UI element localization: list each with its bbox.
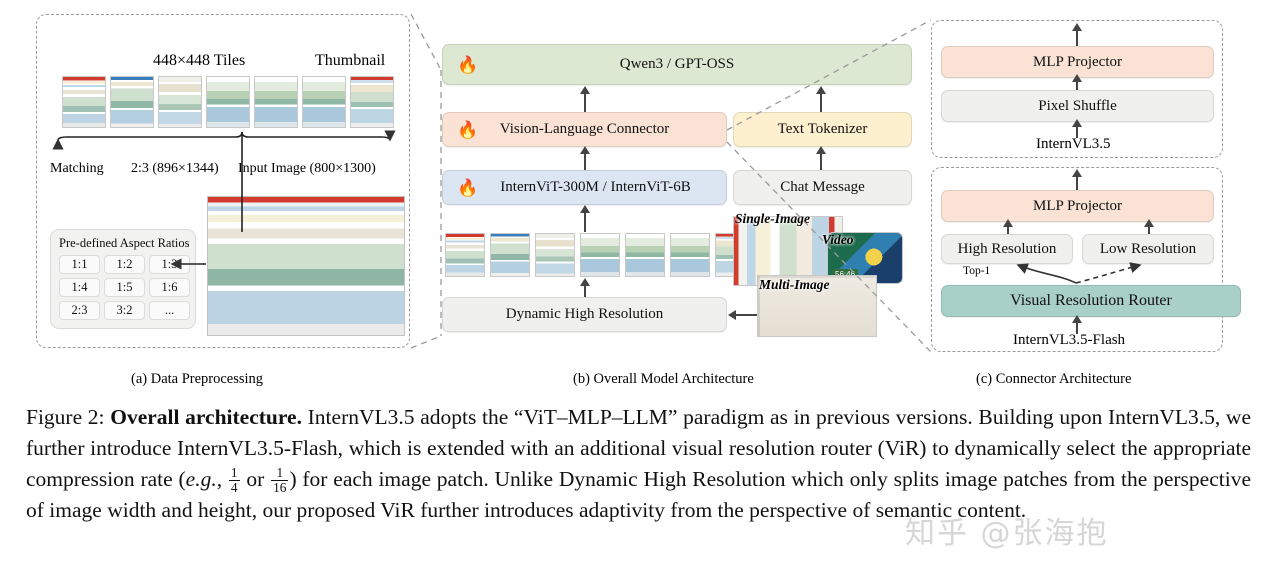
aspect-ratio-cell[interactable]: 3:2 [104,301,145,320]
mlp-projector-label: MLP Projector [1033,198,1122,215]
internvl35-label: InternVL3.5 [1036,136,1111,153]
router-label: Visual Resolution Router [1010,292,1172,310]
tile-thumbnail-5 [254,76,298,128]
patch-thumbnail-6 [670,233,710,277]
multi-image-label: Multi-Image [759,277,830,293]
patch-thumbnail-5 [625,233,665,277]
arrow-mlp-out-top [1076,30,1078,46]
patch-thumbnail-2 [490,233,530,277]
tile-thumbnail-3 [158,76,202,128]
fraction-one-sixteenth: 116 [271,466,288,495]
fraction-one-quarter: 14 [229,466,240,495]
patch-thumbnail-4 [580,233,620,277]
panel-a-caption: (a) Data Preprocessing [131,371,263,388]
aspect-ratio-title: Pre-defined Aspect Ratios [59,235,187,255]
llm-box[interactable]: 🔥 Qwen3 / GPT-OSS [442,44,912,85]
aspect-ratio-cell[interactable]: 1:1 [59,255,100,274]
pixel-shuffle-box[interactable]: Pixel Shuffle [941,90,1214,122]
visual-resolution-router-box[interactable]: Visual Resolution Router [941,285,1241,317]
input-image-label: Input Image (800×1300) [238,161,376,177]
input-image-preview [207,196,405,336]
connector-box-label: Vision-Language Connector [500,121,669,138]
aspect-ratio-cell[interactable]: 1:6 [149,278,190,297]
fraction-denominator: 4 [229,481,240,495]
pixel-shuffle-label: Pixel Shuffle [1038,98,1116,115]
top1-label: Top-1 [963,265,990,277]
aspect-ratio-cell[interactable]: 1:3 [149,255,190,274]
tile-thumbnail-4 [206,76,250,128]
caption-eg: e.g. [186,467,217,491]
video-label: Video [822,232,854,248]
patch-thumbnail-3 [535,233,575,277]
vision-language-connector-box[interactable]: 🔥 Vision-Language Connector [442,112,727,147]
aspect-ratio-label: 2:3 (896×1344) [131,161,219,177]
tile-thumbnail-1 [62,76,106,128]
llm-box-label: Qwen3 / GPT-OSS [620,56,734,73]
matching-label: Matching [50,161,104,177]
aspect-ratio-cell[interactable]: 1:5 [104,278,145,297]
internvl35-flash-label: InternVL3.5-Flash [1013,332,1125,349]
dhr-box-label: Dynamic High Resolution [506,306,664,323]
vit-box-label: InternViT-300M / InternViT-6B [478,179,690,196]
tiles-label: 448×448 Tiles [153,52,245,70]
dynamic-high-resolution-box[interactable]: Dynamic High Resolution [442,297,727,332]
aspect-ratio-card: Pre-defined Aspect Ratios 1:1 1:2 1:3 1:… [50,229,196,329]
fraction-denominator: 16 [271,481,288,495]
low-resolution-box[interactable]: Low Resolution [1082,234,1214,264]
arrow-tiles-to-vit [584,212,586,232]
caption-part-3: or [241,467,271,491]
high-resolution-label: High Resolution [958,241,1057,258]
vision-encoder-box[interactable]: 🔥 InternViT-300M / InternViT-6B [442,170,727,205]
high-resolution-box[interactable]: High Resolution [941,234,1073,264]
flame-icon: 🔥 [457,121,478,138]
panel-b-caption: (b) Overall Model Architecture [573,371,754,388]
figure-number: Figure 2: [26,405,110,429]
panel-c-caption: (c) Connector Architecture [976,371,1131,388]
aspect-ratio-cell[interactable]: 2:3 [59,301,100,320]
flame-icon: 🔥 [457,56,478,73]
flame-icon: 🔥 [457,179,478,196]
single-image-label: Single-Image [735,211,810,227]
low-resolution-label: Low Resolution [1100,241,1196,258]
chat-box-label: Chat Message [780,179,865,196]
caption-bold-title: Overall architecture. [110,405,302,429]
mlp-projector-label: MLP Projector [1033,54,1122,71]
figure-container: 448×448 Tiles Thumbnail Matching 2:3 (89… [0,0,1273,398]
tile-thumbnail-2 [110,76,154,128]
aspect-ratio-grid: 1:1 1:2 1:3 1:4 1:5 1:6 2:3 3:2 ... [59,255,187,320]
chat-message-box[interactable]: Chat Message [733,170,912,205]
caption-part-2: , [217,467,228,491]
patch-thumbnail-1 [445,233,485,277]
thumbnail-label: Thumbnail [315,52,385,70]
fraction-numerator: 1 [271,466,288,481]
mlp-projector-box-bottom[interactable]: MLP Projector [941,190,1214,222]
aspect-ratio-cell[interactable]: 1:4 [59,278,100,297]
arrow-inputs-to-dhr [735,314,757,316]
fraction-numerator: 1 [229,466,240,481]
tokenizer-box-label: Text Tokenizer [778,121,868,138]
figure-caption: Figure 2: Overall architecture. InternVL… [26,402,1251,526]
aspect-ratio-cell[interactable]: 1:2 [104,255,145,274]
tile-thumbnail-7 [350,76,394,128]
text-tokenizer-box[interactable]: Text Tokenizer [733,112,912,147]
aspect-ratio-cell[interactable]: ... [149,301,190,320]
tile-thumbnail-6 [302,76,346,128]
